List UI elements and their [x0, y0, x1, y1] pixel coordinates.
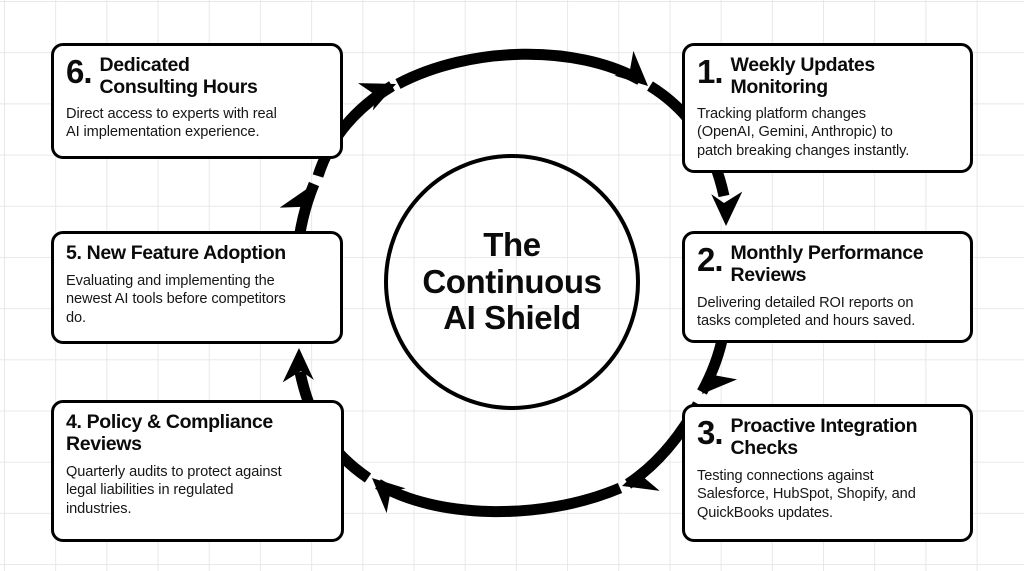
step-6-description: Direct access to experts with real AI im…: [66, 105, 328, 142]
arrowhead-right-lower: [694, 360, 738, 405]
step-3-number: 3.: [697, 416, 723, 449]
step-1-title: Weekly Updates Monitoring: [731, 55, 875, 99]
arrowhead-left-lower: [277, 346, 313, 385]
step-1-description: Tracking platform changes (OpenAI, Gemin…: [697, 105, 958, 161]
arrowhead-bottom-left: [360, 470, 405, 514]
arrowhead-bottom-right: [618, 462, 663, 505]
arrowhead-left-upper: [279, 178, 320, 221]
arrowhead-right-upper: [711, 189, 747, 228]
center-circle: The Continuous AI Shield: [384, 154, 640, 410]
diagram-canvas: The Continuous AI Shield 1. Weekly Updat…: [0, 0, 1024, 571]
step-1-header: 1. Weekly Updates Monitoring: [697, 55, 958, 99]
arrow-path-bottom-to-4: [378, 484, 620, 512]
step-5-description: Evaluating and implementing the newest A…: [66, 272, 328, 328]
step-2-number: 2.: [697, 243, 723, 276]
step-2-header: 2. Monthly Performance Reviews: [697, 243, 958, 287]
step-5-header: 5. New Feature Adoption: [66, 243, 328, 265]
step-3-description: Testing connections against Salesforce, …: [697, 467, 958, 523]
step-4-description: Quarterly audits to protect against lega…: [66, 463, 329, 519]
step-1-number: 1.: [697, 55, 723, 88]
step-box-5[interactable]: 5. New Feature Adoption Evaluating and i…: [51, 231, 343, 344]
step-3-title: Proactive Integration Checks: [731, 416, 918, 460]
arrowhead-top-left: [356, 66, 402, 111]
step-2-title: Monthly Performance Reviews: [731, 243, 924, 287]
step-box-4[interactable]: 4. Policy & Compliance Reviews Quarterly…: [51, 400, 344, 542]
arrow-path-top-to-1: [398, 54, 640, 84]
step-box-3[interactable]: 3. Proactive Integration Checks Testing …: [682, 404, 973, 542]
center-title: The Continuous AI Shield: [422, 227, 601, 338]
arrowhead-top-right: [614, 49, 659, 93]
step-box-1[interactable]: 1. Weekly Updates Monitoring Tracking pl…: [682, 43, 973, 173]
step-box-2[interactable]: 2. Monthly Performance Reviews Deliverin…: [682, 231, 973, 343]
step-2-description: Delivering detailed ROI reports on tasks…: [697, 294, 958, 331]
step-6-header: 6. Dedicated Consulting Hours: [66, 55, 328, 99]
step-6-number: 6.: [66, 55, 92, 88]
step-6-title: Dedicated Consulting Hours: [100, 55, 258, 99]
step-3-header: 3. Proactive Integration Checks: [697, 416, 958, 460]
step-4-header: 4. Policy & Compliance Reviews: [66, 412, 329, 456]
step-4-title: 4. Policy & Compliance Reviews: [66, 412, 273, 456]
step-5-title: 5. New Feature Adoption: [66, 243, 286, 265]
step-box-6[interactable]: 6. Dedicated Consulting Hours Direct acc…: [51, 43, 343, 159]
